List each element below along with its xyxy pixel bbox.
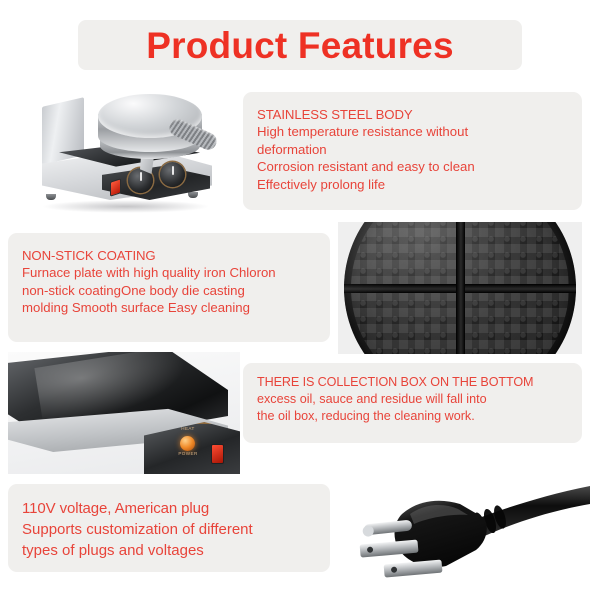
product-photo-waffle-maker: Stainless steel single-head round waffle…: [20, 80, 240, 230]
infographic-page: Product Features Stainless steel single-…: [0, 0, 600, 600]
drop-shadow: [42, 200, 210, 213]
feature-heading: NON-STICK COATING: [22, 247, 316, 264]
feature-panel-collection-box: THERE IS COLLECTION BOX ON THE BOTTOM ex…: [243, 363, 582, 443]
feature-heading: STAINLESS STEEL BODY: [257, 106, 568, 123]
product-photo-power-plug: Black three-prong American NEMA 5-15P po…: [340, 470, 590, 590]
neutral-prong: [384, 560, 443, 578]
feature-line: High temperature resistance without: [257, 123, 568, 140]
appliance-foot: [188, 192, 198, 198]
power-plug-illustration: [340, 470, 590, 590]
power-indicator-light: [180, 436, 195, 451]
feature-line: the oil box, reducing the cleaning work.: [257, 408, 568, 425]
plate-highlight: [344, 222, 576, 354]
page-title-bar: Product Features: [78, 20, 522, 70]
feature-line: Supports customization of different: [22, 519, 316, 540]
non-stick-baking-plate: [344, 222, 576, 354]
product-photo-drip-tray: HEAT POWER Close-up of the dark drip col…: [8, 352, 240, 474]
feature-line: non-stick coatingOne body die casting: [22, 282, 316, 299]
product-photo-waffle-plate: Close-up of black non-stick round waffle…: [338, 222, 582, 354]
feature-line: excess oil, sauce and residue will fall …: [257, 391, 568, 408]
feature-panel-voltage-plug: 110V voltage, American plug Supports cus…: [8, 484, 330, 572]
feature-panel-stainless-steel-body: STAINLESS STEEL BODY High temperature re…: [243, 92, 582, 210]
feature-line: Furnace plate with high quality iron Chl…: [22, 264, 316, 281]
power-switch[interactable]: [211, 444, 224, 464]
waffle-plate-alt: Close-up of black non-stick round waffle…: [338, 222, 339, 223]
feature-heading: THERE IS COLLECTION BOX ON THE BOTTOM: [257, 374, 568, 391]
feature-line: Corrosion resistant and easy to clean: [257, 158, 568, 175]
temperature-knob[interactable]: [160, 162, 185, 187]
feature-heading: 110V voltage, American plug: [22, 498, 316, 519]
feature-line: types of plugs and voltages: [22, 540, 316, 561]
feature-line: deformation: [257, 141, 568, 158]
feature-line: molding Smooth surface Easy cleaning: [22, 299, 316, 316]
feature-line: Effectively prolong life: [257, 176, 568, 193]
power-indicator-label: POWER: [171, 451, 205, 456]
appliance-foot: [46, 194, 56, 200]
page-title: Product Features: [146, 27, 454, 64]
heat-indicator-label: HEAT: [171, 426, 205, 431]
waffle-maker-illustration: [20, 80, 240, 230]
feature-panel-non-stick-coating: NON-STICK COATING Furnace plate with hig…: [8, 233, 330, 342]
